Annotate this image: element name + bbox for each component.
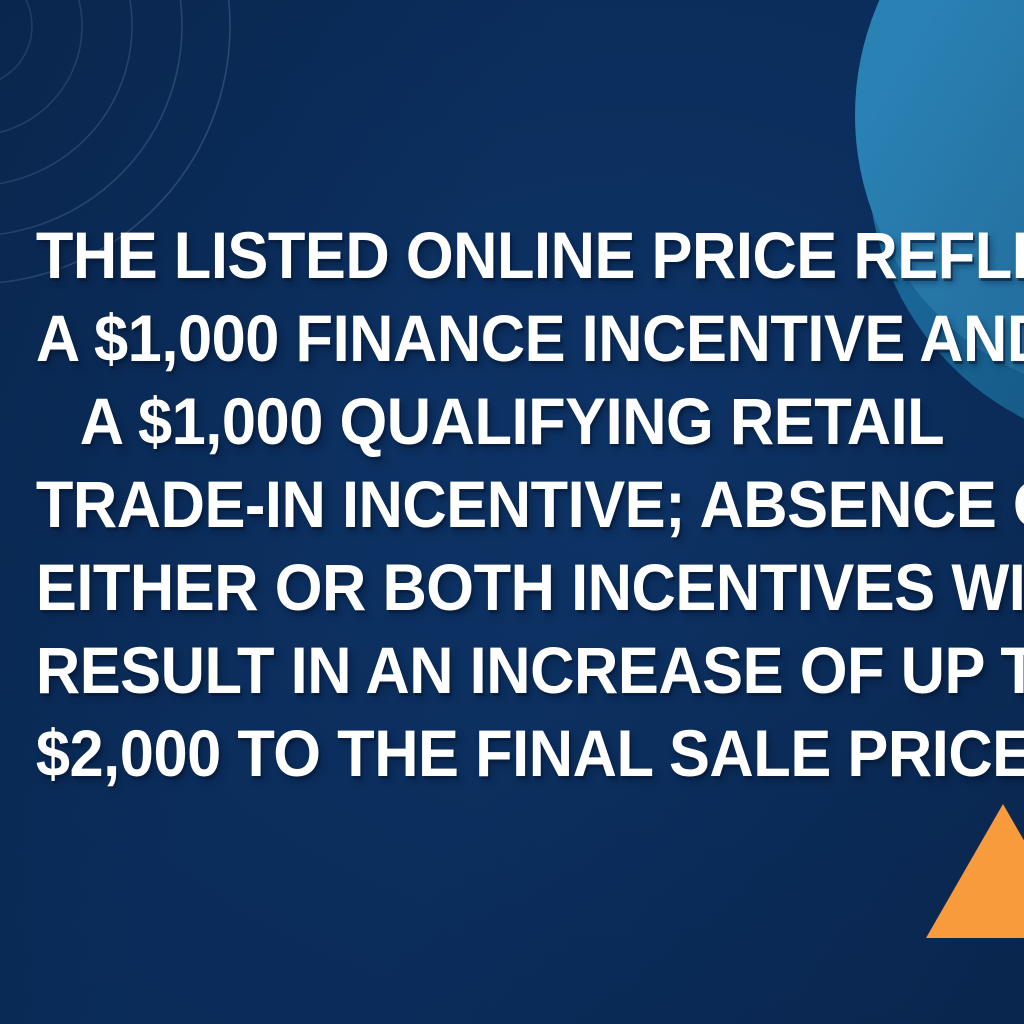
headline-line-1: THE LISTED ONLINE PRICE REFLECTS [36, 214, 988, 297]
orange-triangle [880, 790, 1024, 950]
headline-line-4: TRADE-IN INCENTIVE; ABSENCE OF [36, 463, 988, 546]
headline-line-2: A $1,000 FINANCE INCENTIVE AND [36, 297, 988, 380]
headline-line-5: EITHER OR BOTH INCENTIVES WILL [36, 546, 988, 629]
promo-card: THE LISTED ONLINE PRICE REFLECTS A $1,00… [0, 0, 1024, 1024]
headline-line-3: A $1,000 QUALIFYING RETAIL [36, 380, 988, 463]
headline-line-7: $2,000 TO THE FINAL SALE PRICE. [36, 712, 988, 795]
headline-text-block: THE LISTED ONLINE PRICE REFLECTS A $1,00… [0, 214, 1024, 795]
headline-line-6: RESULT IN AN INCREASE OF UP TO [36, 629, 988, 712]
